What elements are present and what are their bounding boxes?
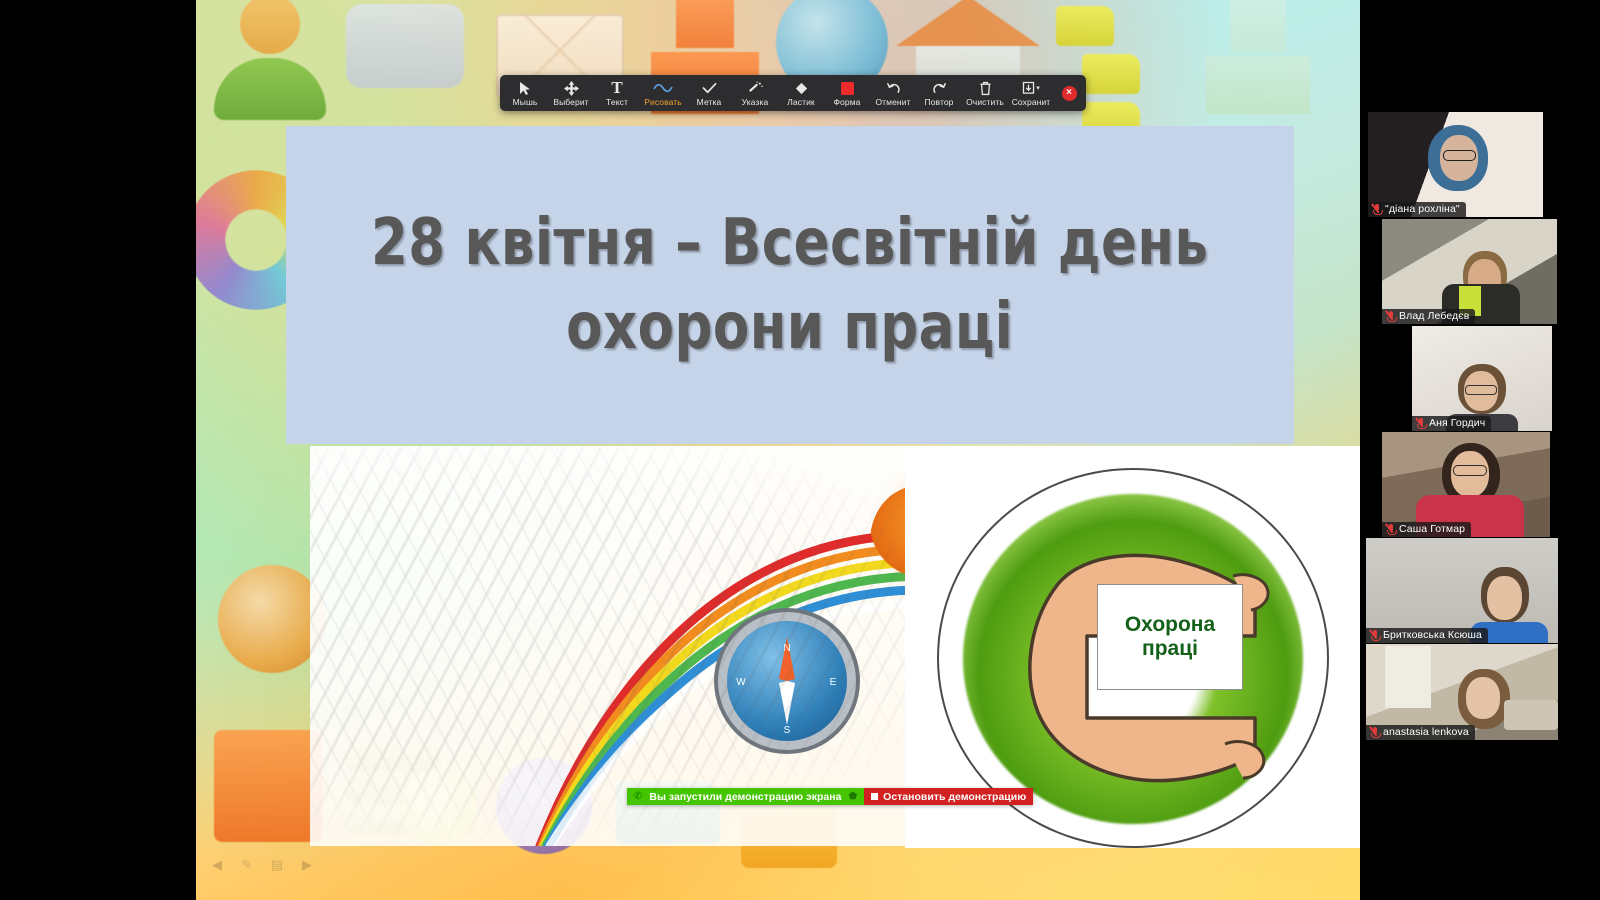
- tool-format-label: Форма: [834, 98, 861, 107]
- eraser-icon: [794, 80, 809, 97]
- stop-square-icon: [871, 793, 878, 800]
- slide-title-panel: 28 квітня – Всесвітній день охорони прац…: [286, 126, 1294, 444]
- participant-namebar: "діана рохліна": [1368, 202, 1466, 217]
- tool-spotlight-label: Указка: [742, 98, 769, 107]
- move-arrows-icon: [564, 80, 579, 97]
- squiggle-draw-icon: [653, 80, 673, 97]
- badge-line-1: Охорона: [1125, 613, 1215, 637]
- tool-save-label: Сохранит: [1012, 98, 1051, 107]
- participant-name: anastasia lenkova: [1383, 726, 1469, 738]
- screen-share-status-bar: ✆ Вы запустили демонстрацию экрана ⬟ Ост…: [627, 788, 1033, 805]
- badge-card: Охорона праці: [1097, 584, 1243, 690]
- participant-tile[interactable]: Бритковська Ксюша: [1366, 538, 1558, 643]
- save-download-icon: ▾: [1022, 80, 1040, 97]
- tool-redo-label: Повтор: [924, 98, 953, 107]
- participant-name: Аня Гордич: [1429, 417, 1485, 429]
- tool-save[interactable]: ▾ Сохранит: [1008, 75, 1054, 111]
- mic-muted-icon: [1387, 311, 1395, 322]
- participant-tile[interactable]: anastasia lenkova: [1366, 644, 1558, 740]
- wallpaper-folders-icon: [1056, 6, 1140, 142]
- menu-icon[interactable]: ▤: [268, 858, 286, 872]
- tool-undo-label: Отменит: [875, 98, 910, 107]
- mic-muted-icon: [1371, 630, 1379, 641]
- share-status-text: Вы запустили демонстрацию экрана: [649, 791, 841, 803]
- mic-muted-icon: [1417, 418, 1425, 429]
- shield-icon: ⬟: [848, 791, 857, 802]
- mic-muted-icon: [1371, 727, 1379, 738]
- screen-root: N S W E Охорона праці 28 квітня – Всесві…: [0, 0, 1600, 900]
- magic-wand-icon: [748, 80, 763, 97]
- tool-text[interactable]: T Текст: [594, 75, 640, 111]
- participant-namebar: Бритковська Ксюша: [1366, 628, 1488, 643]
- tool-clear-label: Очистить: [966, 98, 1004, 107]
- participant-filmstrip[interactable]: "діана рохліна" Влад Лебедєв: [1360, 0, 1600, 900]
- redo-arrow-icon: [932, 80, 947, 97]
- presenter-controls[interactable]: ◀ ✎ ▤ ▶: [208, 858, 316, 872]
- page-title: 28 квітня – Всесвітній день охорони прац…: [363, 201, 1216, 370]
- participant-tile[interactable]: Саша Готмар: [1382, 432, 1550, 537]
- participant-namebar: anastasia lenkova: [1366, 725, 1475, 740]
- participant-namebar: Влад Лебедєв: [1382, 309, 1475, 324]
- share-status-chip: ✆ Вы запустили демонстрацию экрана ⬟: [627, 788, 864, 805]
- cursor-arrow-icon: [519, 80, 532, 97]
- tool-mouse[interactable]: Мышь: [502, 75, 548, 111]
- participant-name: Бритковська Ксюша: [1383, 629, 1482, 641]
- wallpaper-bag-icon: [214, 730, 322, 842]
- participant-name: Саша Готмар: [1399, 523, 1465, 535]
- wallpaper-person-icon: [1206, 0, 1310, 114]
- undo-arrow-icon: [886, 80, 901, 97]
- tool-format[interactable]: Форма: [824, 75, 870, 111]
- badge-line-2: праці: [1142, 637, 1198, 661]
- tool-spotlight[interactable]: Указка: [732, 75, 778, 111]
- stop-share-button[interactable]: Остановить демонстрацию: [864, 788, 1033, 805]
- wallpaper-person-icon: [214, 0, 326, 120]
- tool-select-label: Выберит: [553, 98, 588, 107]
- tool-draw-label: Рисовать: [644, 98, 682, 107]
- chevron-down-icon[interactable]: ▾: [1036, 84, 1040, 92]
- annotation-toolbar[interactable]: Мышь Выберит T Текст Рисовать: [500, 75, 1086, 111]
- title-line-2: охорони праці: [363, 285, 1216, 369]
- tool-eraser-label: Ластик: [787, 98, 815, 107]
- participant-tile[interactable]: "діана рохліна": [1368, 112, 1543, 217]
- tool-mouse-label: Мышь: [513, 98, 538, 107]
- next-slide-icon[interactable]: ▶: [298, 858, 316, 872]
- checkmark-icon: [702, 80, 717, 97]
- text-t-icon: T: [611, 80, 622, 97]
- red-square-icon: [841, 80, 854, 97]
- tool-select[interactable]: Выберит: [548, 75, 594, 111]
- tool-undo[interactable]: Отменит: [870, 75, 916, 111]
- tool-stamp[interactable]: Метка: [686, 75, 732, 111]
- close-toolbar-button[interactable]: ×: [1054, 75, 1084, 111]
- participant-tile[interactable]: Аня Гордич: [1412, 326, 1552, 431]
- trash-icon: [979, 80, 992, 97]
- tool-draw[interactable]: Рисовать: [640, 75, 686, 111]
- close-icon: ×: [1062, 86, 1077, 101]
- participant-namebar: Саша Готмар: [1382, 522, 1471, 537]
- participant-namebar: Аня Гордич: [1412, 416, 1491, 431]
- tool-stamp-label: Метка: [697, 98, 722, 107]
- stop-share-label: Остановить демонстрацию: [883, 791, 1026, 803]
- tool-redo[interactable]: Повтор: [916, 75, 962, 111]
- tool-clear[interactable]: Очистить: [962, 75, 1008, 111]
- mic-muted-icon: [1387, 524, 1395, 535]
- participant-name: Влад Лебедєв: [1399, 310, 1469, 322]
- tool-eraser[interactable]: Ластик: [778, 75, 824, 111]
- title-line-1: 28 квітня – Всесвітній день: [363, 201, 1216, 285]
- prev-slide-icon[interactable]: ◀: [208, 858, 226, 872]
- mic-muted-icon: [1373, 204, 1381, 215]
- pen-icon[interactable]: ✎: [238, 858, 256, 872]
- participant-name: "діана рохліна": [1385, 203, 1460, 215]
- wallpaper-chat-bubble-icon: [346, 4, 464, 88]
- participant-tile[interactable]: Влад Лебедєв: [1382, 219, 1557, 324]
- phone-icon: ✆: [634, 791, 642, 802]
- tool-text-label: Текст: [606, 98, 628, 107]
